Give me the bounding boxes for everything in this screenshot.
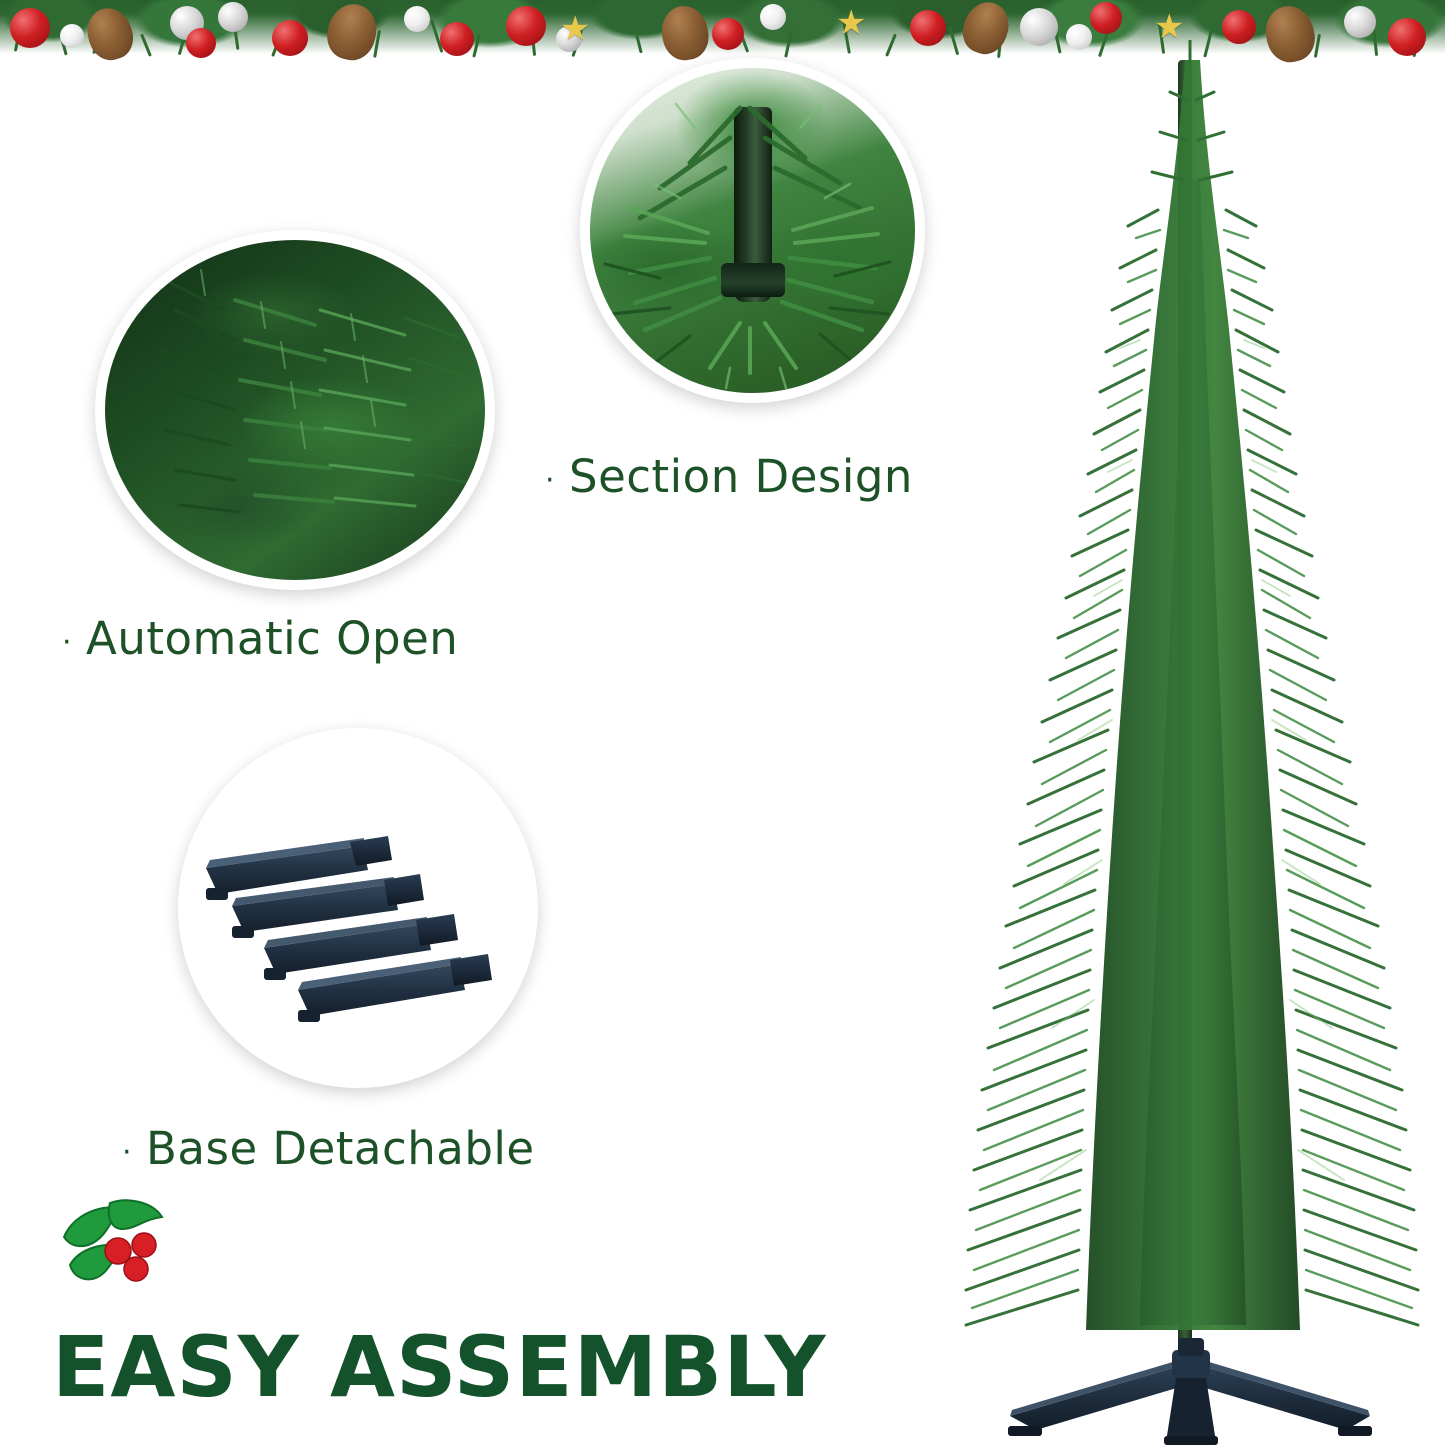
feature-label-text: Base Detachable	[146, 1122, 535, 1175]
ornament-ball	[910, 10, 946, 46]
feature-photo-base-detachable	[178, 728, 538, 1088]
tree-foliage-graphic	[960, 40, 1440, 1440]
branch-needles-graphic	[105, 240, 485, 580]
ornament-ball	[712, 18, 744, 50]
feature-photo-automatic-open	[95, 230, 495, 590]
tree-stand-graphic	[990, 1330, 1390, 1445]
ornament-ball	[440, 22, 474, 56]
ornament-ball	[186, 28, 216, 58]
branch-closeup-image	[105, 240, 485, 580]
star-ornament: ★	[836, 6, 866, 40]
bullet-dot: ·	[545, 463, 555, 498]
feature-label-text: Automatic Open	[86, 612, 458, 665]
ornament-ball	[760, 4, 786, 30]
tree-stand	[990, 1330, 1390, 1445]
ornament-ball	[10, 8, 50, 48]
holly-icon	[52, 1195, 182, 1305]
product-feature-image: ★ ★ ★	[0, 0, 1445, 1445]
ornament-ball	[506, 6, 546, 46]
pole-joint-image	[590, 68, 915, 393]
pole-needles-graphic	[590, 68, 915, 393]
stand-bars-graphic	[188, 738, 528, 1078]
ornament-ball	[1090, 2, 1122, 34]
feature-label-section-design: ·Section Design	[545, 450, 913, 503]
bullet-dot: ·	[62, 625, 72, 660]
ornament-ball	[218, 2, 248, 32]
ornament-ball	[60, 24, 84, 48]
ornament-ball	[404, 6, 430, 32]
detached-stand-image	[188, 738, 528, 1078]
star-ornament: ★	[1154, 10, 1184, 44]
feature-label-base-detachable: ·Base Detachable	[122, 1122, 535, 1175]
feature-label-automatic-open: ·Automatic Open	[62, 612, 458, 665]
feature-label-text: Section Design	[569, 450, 913, 503]
ornament-ball	[1344, 6, 1376, 38]
ornament-ball	[1222, 10, 1256, 44]
ornament-ball	[272, 20, 308, 56]
bullet-dot: ·	[122, 1135, 132, 1170]
product-photo-pencil-christmas-tree	[960, 40, 1440, 1440]
headline-text: EASY ASSEMBLY	[52, 1318, 826, 1416]
star-ornament: ★	[560, 12, 590, 46]
feature-photo-section-design	[580, 58, 925, 403]
